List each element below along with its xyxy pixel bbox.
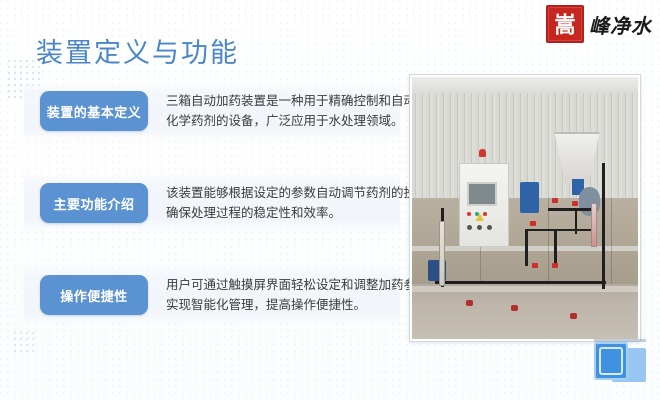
photo-drain-valve xyxy=(466,300,473,306)
description-line: 确保处理过程的稳定性和效率。 xyxy=(166,203,396,223)
photo-pipe xyxy=(435,281,607,284)
photo-pipe xyxy=(602,163,605,289)
description-line: 三箱自动加药装置是一种用于精确控制和自动添加 xyxy=(166,91,396,111)
photo-valve xyxy=(552,198,558,203)
photo-pipe xyxy=(525,229,593,232)
photo-dosing-pump xyxy=(520,182,538,213)
photo-level-gauge xyxy=(439,221,445,286)
decoration-squares xyxy=(594,342,646,388)
row-description: 三箱自动加药装置是一种用于精确控制和自动添加 化学药剂的设备，广泛应用于水处理领… xyxy=(166,91,396,131)
photo-pipe xyxy=(575,208,578,234)
photo-pipe xyxy=(525,229,528,266)
photo-drain-valve xyxy=(570,313,577,319)
content-row: 操作便捷性 用户可通过触摸屏界面轻松设定和调整加药参数， 实现智能化管理，提高操… xyxy=(24,264,400,326)
photo-touch-screen xyxy=(467,182,497,205)
seal-character: 嵩 xyxy=(555,13,576,35)
row-description: 该装置能够根据设定的参数自动调节药剂的投加量， 确保处理过程的稳定性和效率。 xyxy=(166,183,396,223)
description-line: 实现智能化管理，提高操作便捷性。 xyxy=(166,295,396,315)
photo-valve xyxy=(532,263,538,268)
decoration-square-front xyxy=(594,342,628,380)
photo-tank-seam xyxy=(611,198,612,284)
row-chip-label[interactable]: 装置的基本定义 xyxy=(40,91,148,131)
row-chip-label[interactable]: 操作便捷性 xyxy=(40,275,148,315)
photo-pipe xyxy=(554,229,557,266)
photo-alarm-beacon xyxy=(479,149,486,157)
photo-ground xyxy=(412,284,638,339)
photo-control-knobs xyxy=(467,225,492,230)
content-row: 主要功能介绍 该装置能够根据设定的参数自动调节药剂的投加量， 确保处理过程的稳定… xyxy=(24,172,400,234)
row-chip-label[interactable]: 主要功能介绍 xyxy=(40,183,148,223)
brand-name: 峰净水 xyxy=(589,10,652,39)
photo-valve xyxy=(530,221,536,226)
photo-valve xyxy=(572,201,578,206)
slide-canvas: 嵩 峰净水 装置定义与功能 装置的基本定义 三箱自动加药装置是一种用于精确控制和… xyxy=(0,0,660,400)
description-line: 化学药剂的设备，广泛应用于水处理领域。 xyxy=(166,111,396,131)
photo-flow-meter xyxy=(591,203,597,247)
equipment-photo-frame xyxy=(409,74,641,342)
content-rows: 装置的基本定义 三箱自动加药装置是一种用于精确控制和自动添加 化学药剂的设备，广… xyxy=(24,80,400,326)
photo-valve xyxy=(552,263,558,268)
description-line: 该装置能够根据设定的参数自动调节药剂的投加量， xyxy=(166,183,396,203)
equipment-photo xyxy=(412,77,638,339)
page-title: 装置定义与功能 xyxy=(36,31,239,70)
dot-pattern-decoration-bottom-left xyxy=(12,330,38,356)
photo-wall-top-edge xyxy=(412,77,638,93)
row-description: 用户可通过触摸屏界面轻松设定和调整加药参数， 实现智能化管理，提高操作便捷性。 xyxy=(166,275,396,315)
description-line: 用户可通过触摸屏界面轻松设定和调整加药参数， xyxy=(166,275,396,295)
photo-indicator-lights xyxy=(467,212,487,216)
seal-icon: 嵩 xyxy=(546,5,584,43)
brand-logo: 嵩 峰净水 xyxy=(546,4,652,44)
photo-drain-valve xyxy=(511,305,518,311)
photo-control-cabinet xyxy=(459,163,508,246)
content-row: 装置的基本定义 三箱自动加药装置是一种用于精确控制和自动添加 化学药剂的设备，广… xyxy=(24,80,400,142)
